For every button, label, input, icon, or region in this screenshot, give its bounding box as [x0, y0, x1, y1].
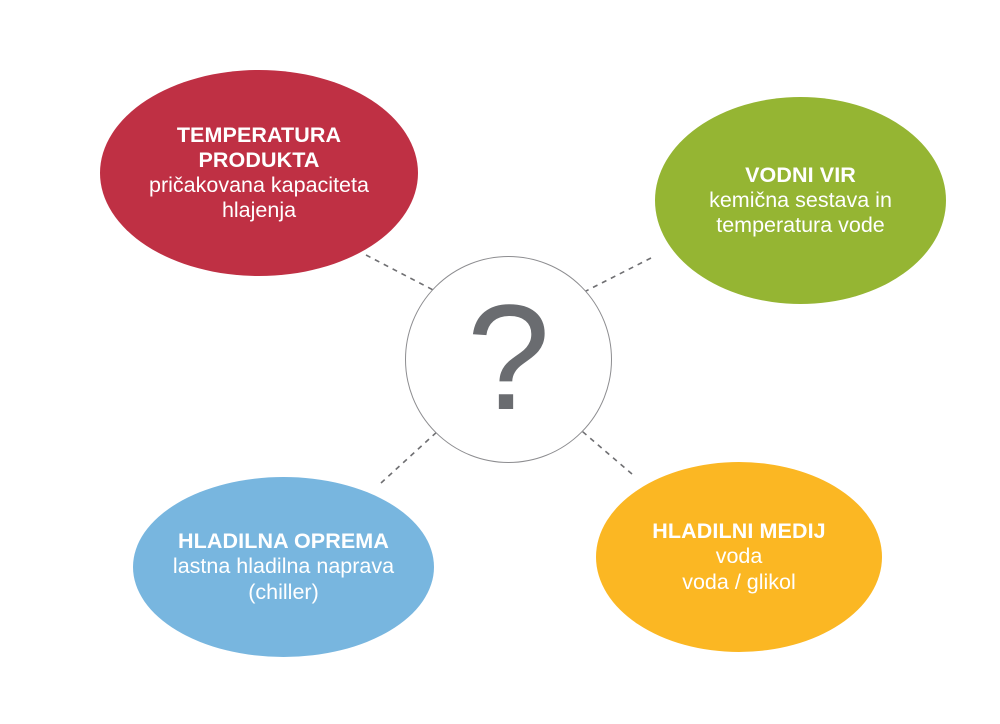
- question-mark-icon: ?: [467, 282, 550, 432]
- connector-hub-to-temperatura-produkta: [366, 255, 437, 292]
- connector-hub-to-vodni-vir: [580, 258, 651, 294]
- node-title-line1: HLADILNI MEDIJ: [652, 519, 825, 544]
- node-title-line1: HLADILNA OPREMA: [178, 529, 389, 554]
- center-hub[interactable]: ?: [405, 256, 612, 463]
- diagram-canvas: TEMPERATURA PRODUKTA pričakovana kapacit…: [0, 0, 1000, 724]
- node-temperatura-produkta[interactable]: TEMPERATURA PRODUKTA pričakovana kapacit…: [100, 70, 418, 276]
- node-title-line2: PRODUKTA: [198, 148, 319, 173]
- node-hladilna-oprema[interactable]: HLADILNA OPREMA lastna hladilna naprava …: [133, 477, 434, 657]
- node-subtitle-line1: pričakovana kapaciteta: [149, 173, 369, 198]
- connector-hub-to-hladilni-medij: [576, 426, 632, 474]
- node-subtitle-line1: voda: [716, 544, 763, 569]
- node-subtitle-line1: lastna hladilna naprava: [173, 554, 394, 579]
- node-title-line1: VODNI VIR: [745, 163, 856, 188]
- node-subtitle-line2: hlajenja: [222, 198, 296, 223]
- node-vodni-vir[interactable]: VODNI VIR kemična sestava in temperatura…: [655, 97, 946, 304]
- node-hladilni-medij[interactable]: HLADILNI MEDIJ voda voda / glikol: [596, 462, 882, 652]
- node-subtitle-line2: voda / glikol: [682, 570, 796, 595]
- node-subtitle-line1: kemična sestava in: [709, 188, 892, 213]
- node-subtitle-line2: (chiller): [248, 580, 318, 605]
- node-subtitle-line2: temperatura vode: [716, 213, 885, 238]
- connector-hub-to-hladilna-oprema: [381, 430, 439, 483]
- node-title-line1: TEMPERATURA: [177, 123, 341, 148]
